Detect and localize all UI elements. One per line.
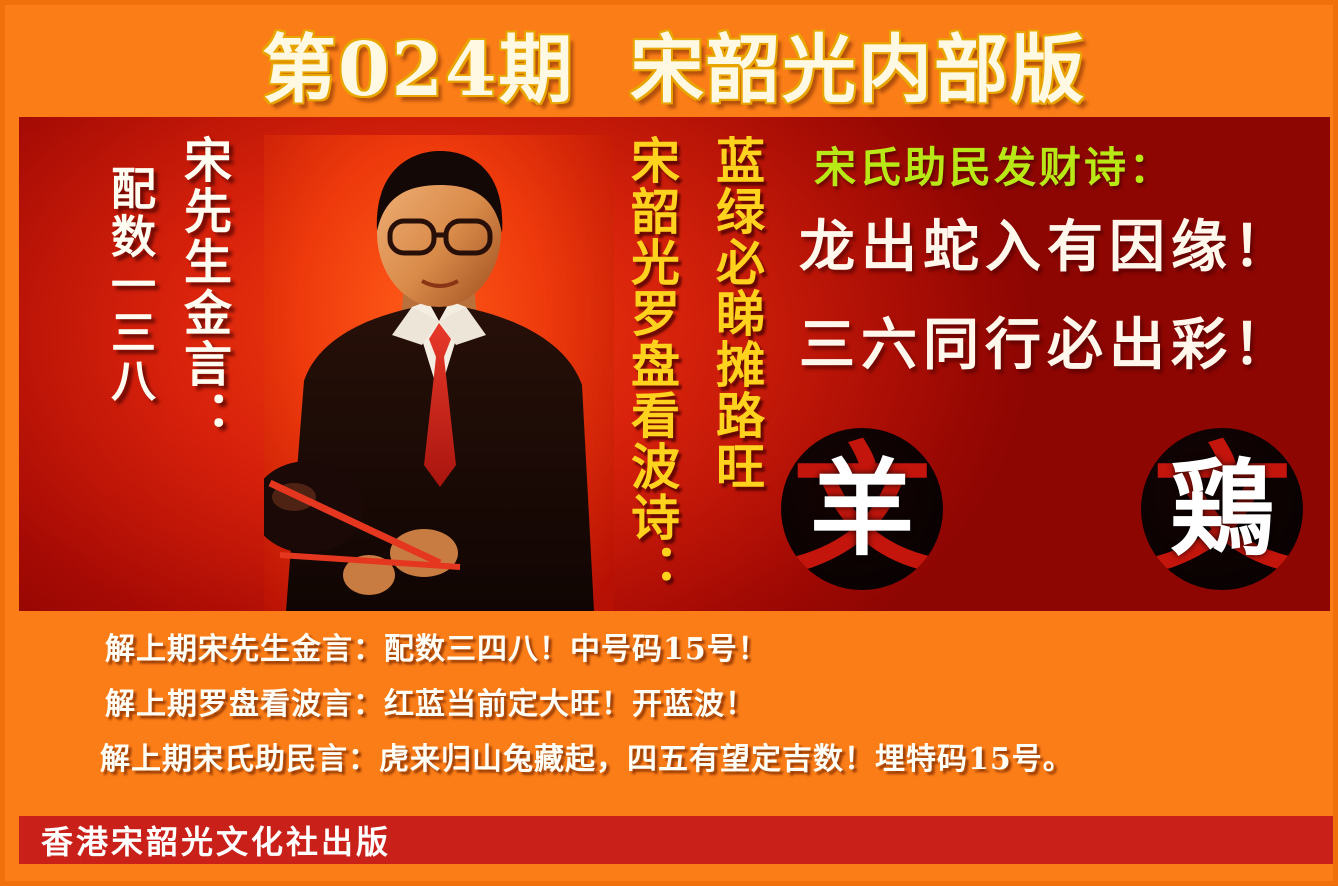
wealth-poem-line-1: 龙出蛇入有因缘！	[799, 202, 1295, 283]
publisher-footer-bar: 香港宋韶光文化社出版	[19, 816, 1333, 864]
main-red-panel: 宋先生金言： 配数一三八	[19, 117, 1330, 611]
mr-song-motto-value: 配数一三八	[107, 165, 152, 405]
lottery-poster: 第024期 宋韶光内部版 宋先生金言： 配数一三八	[0, 0, 1338, 886]
wealth-poem-line-2: 三六同行必出彩！	[799, 300, 1295, 381]
zodiac-label-goat: 羊	[781, 428, 943, 590]
mr-song-motto-title: 宋先生金言：	[179, 135, 227, 441]
wealth-poem-heading: 宋氏助民发财诗：	[814, 134, 1174, 195]
zodiac-badge-rooster[interactable]: 文 鶏	[1141, 428, 1303, 590]
zodiac-label-rooster: 鶏	[1141, 428, 1303, 590]
master-portrait-photo	[264, 135, 614, 611]
compass-poem-value: 蓝绿必睇摊路旺	[712, 135, 761, 492]
note-line-wealth: 解上期宋氏助民言：虎来归山兔藏起，四五有望定吉数！埋特码15号。	[100, 735, 1074, 785]
poster-title-bar: 第024期 宋韶光内部版	[5, 13, 1338, 113]
zodiac-badge-goat[interactable]: 文 羊	[781, 428, 943, 590]
page-title: 第024期 宋韶光内部版	[262, 10, 1086, 117]
compass-poem-title: 宋韶光罗盘看波诗：	[627, 135, 676, 594]
publisher-name: 香港宋韶光文化社出版	[41, 817, 391, 863]
note-line-motto: 解上期宋先生金言：配数三四八！中号码15号！	[105, 625, 769, 675]
note-line-compass: 解上期罗盘看波言：红蓝当前定大旺！开蓝波！	[105, 680, 756, 730]
